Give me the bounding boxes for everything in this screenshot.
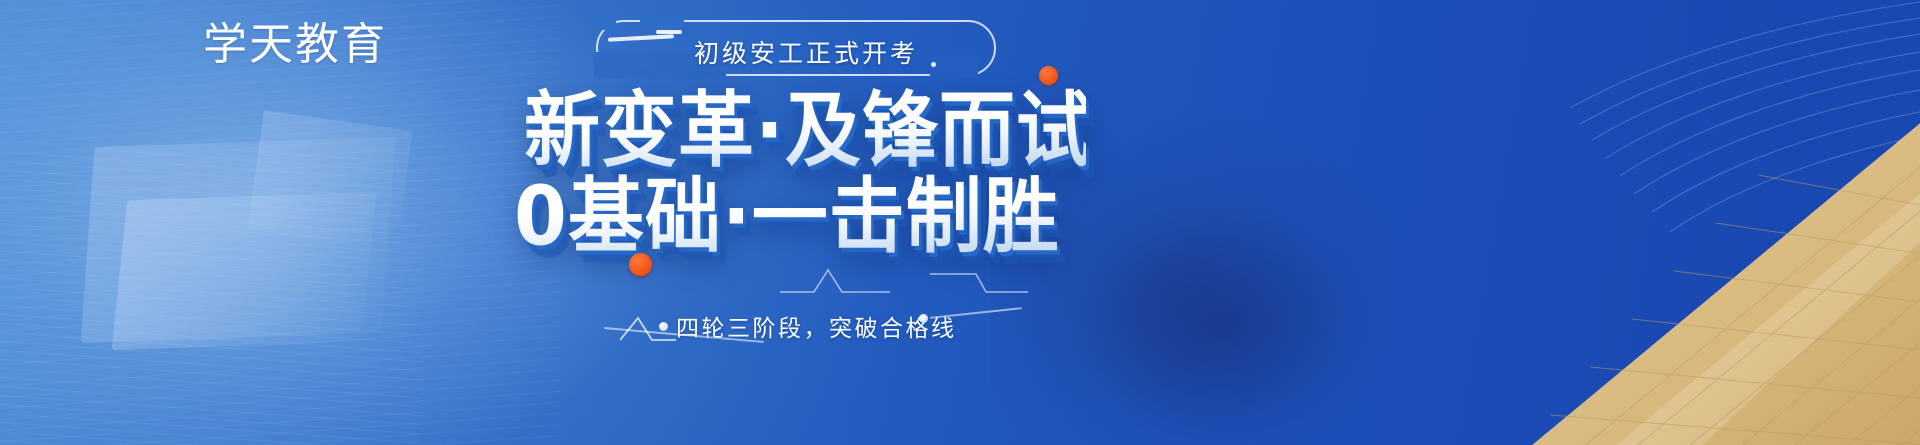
promo-banner: 学天教育 初级安工正式开考 新变革·及锋而试 0基础·一击制胜 四轮三阶段，突破… — [0, 0, 1920, 445]
badge-dash-long — [608, 34, 674, 41]
background-photo-blur-core — [1070, 205, 1370, 445]
background-line-texture-secondary — [0, 150, 420, 445]
tagline-dot-left — [659, 322, 668, 331]
brand-logo: 学天教育 — [203, 8, 387, 72]
background-panel-shape-a — [81, 137, 396, 343]
decorative-zigzag-right — [780, 262, 1040, 298]
accent-dot-orange-left — [629, 253, 652, 276]
badge-label: 初级安工正式开考 — [694, 34, 918, 70]
headline-block: 新变革·及锋而试 0基础·一击制胜 — [506, 84, 1086, 256]
badge-frame-gap-1 — [596, 16, 616, 30]
decorative-tan-paper — [1250, 115, 1920, 445]
tagline-label: 四轮三阶段，突破合格线 — [676, 309, 957, 343]
tagline-dot-right — [919, 314, 928, 323]
background-swoosh-lines — [1140, 0, 1920, 300]
badge-frame-gap-2 — [640, 16, 684, 28]
background-panel-shape-b — [112, 192, 377, 351]
badge-dot — [931, 62, 936, 67]
headline-line-2: 0基础·一击制胜 — [514, 170, 1086, 263]
badge-frame-gap-4 — [930, 54, 978, 78]
background-panel-shape-c — [247, 110, 412, 250]
headline-line-1: 新变革·及锋而试 — [524, 84, 1086, 177]
accent-dot-orange-right — [1039, 66, 1058, 85]
badge-dash-short — [656, 30, 682, 34]
decorative-peak-left — [620, 312, 680, 342]
